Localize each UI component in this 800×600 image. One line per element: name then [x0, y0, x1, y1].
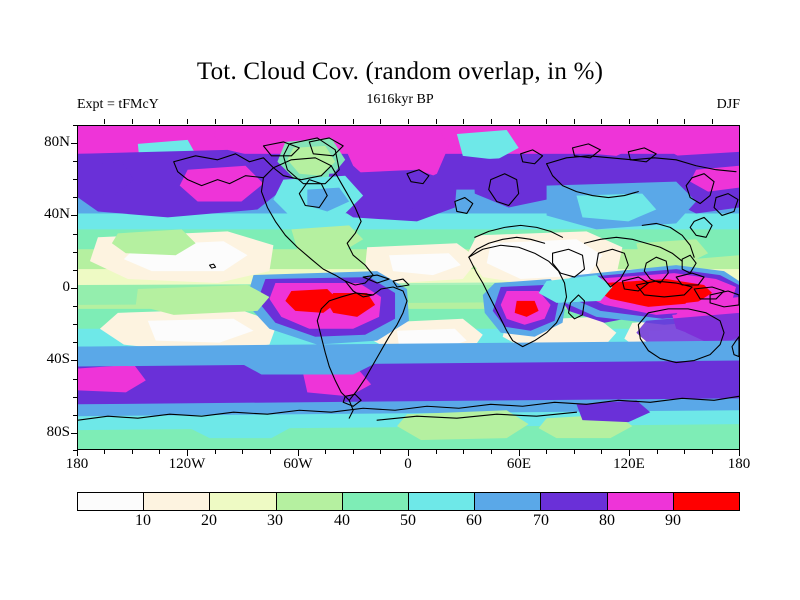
x-axis-label-180e: 180: [704, 456, 774, 473]
colorbar-segment-50-60: [409, 493, 475, 510]
x-top-tick: [298, 119, 299, 124]
y-axis-label-80n: 80N: [10, 134, 70, 151]
colorbar-segment-0-10: [78, 493, 144, 510]
x-top-tick: [601, 119, 602, 124]
colorbar-label-10: 10: [118, 512, 168, 530]
colorbar-segment-80-90: [608, 493, 674, 510]
colorbar-segment-30-40: [277, 493, 343, 510]
colorbar-label-30: 30: [250, 512, 300, 530]
colorbar-label-40: 40: [317, 512, 367, 530]
x-top-tick: [242, 119, 243, 124]
y-minor-tick: [73, 342, 77, 343]
x-top-tick: [657, 119, 658, 124]
x-top-tick: [436, 119, 437, 124]
y-minor-tick: [73, 324, 77, 325]
figure-canvas: Tot. Cloud Cov. (random overlap, in %) E…: [0, 0, 800, 600]
x-minor-tick: [159, 450, 160, 454]
x-top-tick: [187, 119, 188, 124]
time-period-label: 1616kyr BP: [0, 92, 800, 108]
x-axis-label-60w: 60W: [263, 456, 333, 473]
colorbar-segment-60-70: [475, 493, 541, 510]
y-minor-tick: [73, 197, 77, 198]
colorbar-label-90: 90: [648, 512, 698, 530]
x-top-tick: [159, 119, 160, 124]
y-minor-tick: [73, 234, 77, 235]
x-minor-tick: [132, 450, 133, 454]
colorbar-label-70: 70: [516, 512, 566, 530]
x-top-tick: [408, 119, 409, 124]
y-axis-label-0: 0: [10, 279, 70, 296]
x-top-tick: [629, 119, 630, 124]
x-minor-tick: [242, 450, 243, 454]
y-minor-tick: [73, 179, 77, 180]
x-minor-tick: [684, 450, 685, 454]
x-axis-label-120w: 120W: [152, 456, 222, 473]
map-plot-area: [77, 125, 740, 450]
x-minor-tick: [436, 450, 437, 454]
colorbar-segment-10-20: [144, 493, 210, 510]
y-minor-tick: [73, 125, 77, 126]
y-tick-40n: [71, 215, 77, 216]
x-top-tick: [491, 119, 492, 124]
x-axis-label-60e: 60E: [484, 456, 554, 473]
y-axis-label-40s: 40S: [10, 351, 70, 368]
x-minor-tick: [463, 450, 464, 454]
y-tick-80n: [71, 143, 77, 144]
x-minor-tick: [491, 450, 492, 454]
x-top-tick: [104, 119, 105, 124]
x-top-tick: [353, 119, 354, 124]
x-minor-tick: [215, 450, 216, 454]
colorbar-label-50: 50: [383, 512, 433, 530]
x-top-tick: [574, 119, 575, 124]
x-minor-tick: [712, 450, 713, 454]
x-top-tick: [325, 119, 326, 124]
y-tick-40s: [71, 360, 77, 361]
x-top-tick: [270, 119, 271, 124]
y-minor-tick: [73, 415, 77, 416]
y-minor-tick: [73, 397, 77, 398]
y-minor-tick: [73, 306, 77, 307]
y-minor-tick: [73, 161, 77, 162]
x-top-tick: [519, 119, 520, 124]
x-top-tick: [215, 119, 216, 124]
x-top-tick: [463, 119, 464, 124]
colorbar: [77, 492, 740, 511]
y-tick-80s: [71, 433, 77, 434]
season-label: DJF: [717, 97, 740, 113]
y-tick-0: [71, 288, 77, 289]
colorbar-segment-20-30: [210, 493, 276, 510]
x-minor-tick: [657, 450, 658, 454]
x-axis-label-0: 0: [373, 456, 443, 473]
colorbar-segment-40-50: [343, 493, 409, 510]
colorbar-label-20: 20: [184, 512, 234, 530]
colorbar-label-80: 80: [582, 512, 632, 530]
x-top-tick: [684, 119, 685, 124]
x-minor-tick: [601, 450, 602, 454]
x-top-tick: [712, 119, 713, 124]
cloud-cover-map: [78, 126, 739, 449]
y-axis-label-80s: 80S: [10, 424, 70, 441]
y-minor-tick: [73, 270, 77, 271]
x-top-tick: [546, 119, 547, 124]
x-minor-tick: [546, 450, 547, 454]
x-minor-tick: [104, 450, 105, 454]
x-minor-tick: [325, 450, 326, 454]
x-axis-label-120e: 120E: [594, 456, 664, 473]
x-top-tick: [132, 119, 133, 124]
x-minor-tick: [380, 450, 381, 454]
colorbar-segment-70-80: [541, 493, 607, 510]
colorbar-label-60: 60: [449, 512, 499, 530]
x-minor-tick: [353, 450, 354, 454]
y-minor-tick: [73, 252, 77, 253]
y-axis-label-40n: 40N: [10, 206, 70, 223]
x-top-tick: [380, 119, 381, 124]
x-minor-tick: [270, 450, 271, 454]
x-minor-tick: [574, 450, 575, 454]
y-minor-tick: [73, 379, 77, 380]
x-axis-label-180w: 180: [42, 456, 112, 473]
page-title: Tot. Cloud Cov. (random overlap, in %): [0, 58, 800, 86]
colorbar-segment-90-100: [674, 493, 739, 510]
